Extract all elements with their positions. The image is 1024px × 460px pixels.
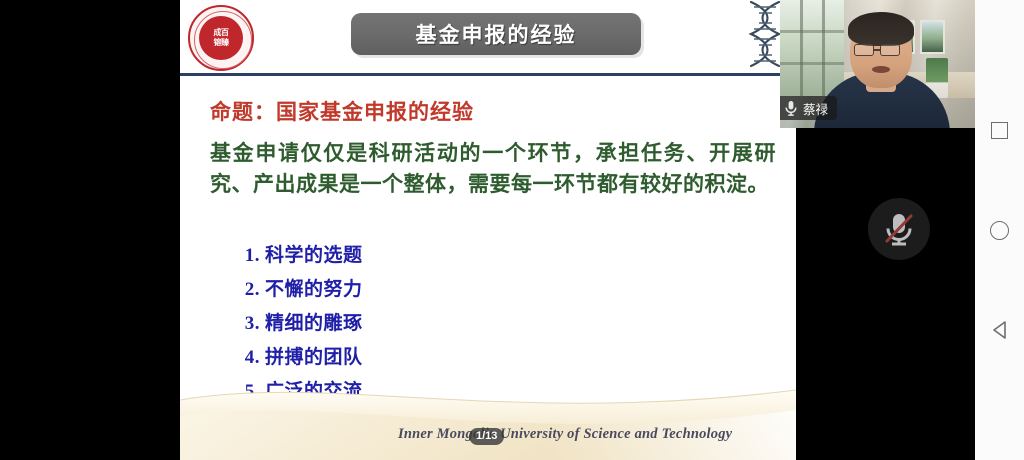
android-navigation-bar xyxy=(975,0,1024,460)
slide-bottom-decoration xyxy=(180,370,796,460)
window-rail xyxy=(780,30,844,33)
list-item-label: 不懈的努力 xyxy=(265,278,363,300)
seal-outer-ring xyxy=(194,11,252,69)
participant-video-tile[interactable]: 蔡禄 xyxy=(780,0,976,128)
list-item: 2.不懈的努力 xyxy=(238,272,363,306)
nav-home-button[interactable] xyxy=(975,180,1024,280)
back-triangle-icon xyxy=(989,319,1011,341)
participant-glasses-bridge xyxy=(874,49,880,51)
slide-title-plaque: 基金申报的经验 xyxy=(351,13,641,55)
window-mullion xyxy=(822,0,825,96)
list-item-label: 拼搏的团队 xyxy=(265,346,363,368)
list-item: 3.精细的雕琢 xyxy=(238,306,363,340)
letterbox-left xyxy=(0,0,180,460)
slide-title: 基金申报的经验 xyxy=(416,19,577,49)
presentation-slide[interactable]: 成百镕臻 基金申报的经验 xyxy=(180,0,796,460)
page-indicator: 1/13 xyxy=(469,428,504,445)
microphone-muted-icon xyxy=(882,209,916,249)
list-item-number: 3. xyxy=(238,307,260,341)
list-item: 4.拼搏的团队 xyxy=(238,340,363,374)
participant-mouth xyxy=(872,66,890,73)
body-paragraph: 基金申请仅仅是科研活动的一个环节，承担任务、开展研究、产出成果是一个整体，需要每… xyxy=(210,138,776,200)
slide-footer-text: Inner Mongolia University of Science and… xyxy=(398,426,732,443)
list-item-label: 科学的选题 xyxy=(265,244,363,266)
proposition-heading: 命题：国家基金申报的经验 xyxy=(210,96,474,126)
background-window xyxy=(780,0,844,96)
list-item: 1.科学的选题 xyxy=(238,238,363,272)
list-item-label: 精细的雕琢 xyxy=(265,312,363,334)
participant-glasses-left xyxy=(854,44,874,56)
mute-toggle-button[interactable] xyxy=(868,198,930,260)
participant-name: 蔡禄 xyxy=(803,99,828,118)
list-item-number: 1. xyxy=(238,239,260,273)
university-seal-icon: 成百镕臻 xyxy=(188,5,254,71)
participant-glasses-right xyxy=(880,44,900,56)
nav-back-button[interactable] xyxy=(975,280,1024,380)
participant-name-chip: 蔡禄 xyxy=(780,96,837,120)
wall-art-right xyxy=(920,20,945,54)
window-mullion xyxy=(800,0,803,96)
window-rail xyxy=(780,62,844,65)
slide-header: 成百镕臻 基金申报的经验 xyxy=(180,0,796,76)
nav-recents-button[interactable] xyxy=(975,80,1024,180)
home-circle-icon xyxy=(990,221,1009,240)
recents-square-icon xyxy=(991,122,1008,139)
list-item-number: 2. xyxy=(238,273,260,307)
microphone-icon xyxy=(784,100,798,117)
screen-root: 成百镕臻 基金申报的经验 xyxy=(0,0,1024,460)
participant-hair xyxy=(848,12,914,46)
